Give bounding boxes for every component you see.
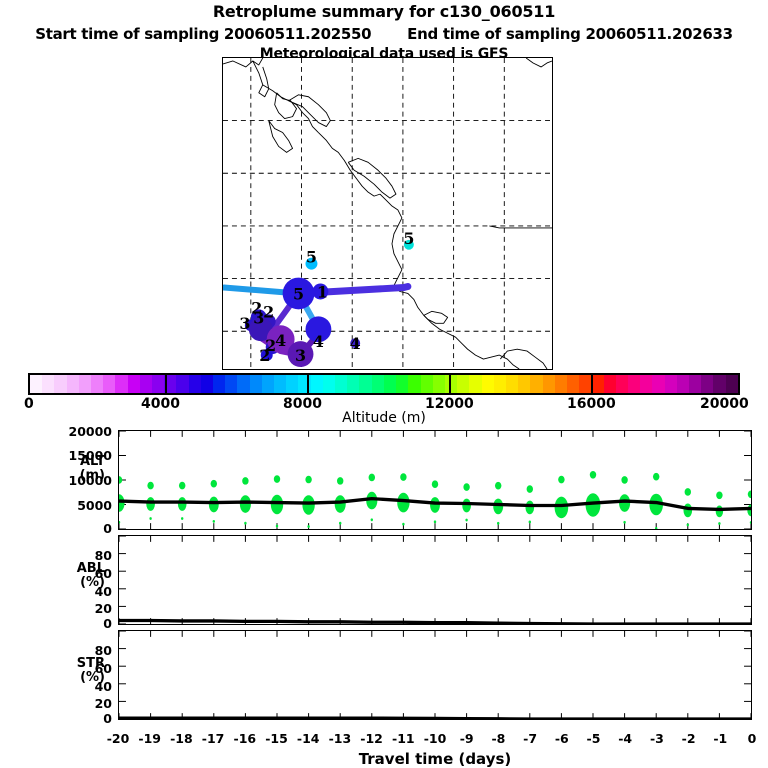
alt-spread-blob: [149, 517, 151, 520]
x-tick-label: -1: [705, 731, 735, 746]
alt-spread-blob: [716, 505, 723, 517]
alt-spread-blob: [687, 523, 689, 526]
svg-text:3: 3: [239, 314, 250, 333]
colorbar-swatch-25: [335, 375, 347, 393]
x-tick-label: -19: [135, 731, 165, 746]
alt-scatter-points: [119, 471, 751, 529]
colorbar-swatch-49: [628, 375, 640, 393]
colorbar-swatch-28: [372, 375, 384, 393]
colorbar-axis-label: Altitude (m): [0, 410, 768, 426]
colorbar-swatch-1: [42, 375, 54, 393]
abl-axis-ticks: [119, 536, 751, 624]
str-ytick-20: 20: [48, 696, 112, 711]
alt-spread-blob: [305, 476, 311, 484]
alt-spread-blob: [430, 497, 440, 513]
x-tick-label: -4: [610, 731, 640, 746]
alt-spread-blob: [179, 482, 185, 490]
colorbar-swatch-40: [518, 375, 530, 393]
str-series-line: [119, 718, 751, 719]
svg-text:2: 2: [251, 298, 262, 317]
colorbar-swatch-2: [54, 375, 66, 393]
colorbar-swatch-35: [457, 375, 469, 393]
alt-spread-blob: [590, 471, 596, 479]
colorbar-swatch-42: [543, 375, 555, 393]
colorbar-swatch-48: [616, 375, 628, 393]
colorbar-swatch-7: [115, 375, 127, 393]
alt-spread-blob: [750, 521, 751, 524]
x-tick-label: -15: [262, 731, 292, 746]
alt-spread-blob: [119, 521, 120, 524]
colorbar-swatch-9: [140, 375, 152, 393]
x-tick-label: -5: [579, 731, 609, 746]
alt-spread-blob: [621, 476, 627, 484]
svg-text:2: 2: [259, 346, 270, 365]
alt-ytick-0: 0: [48, 521, 112, 536]
colorbar-swatch-44: [567, 375, 579, 393]
x-tick-label: -18: [166, 731, 196, 746]
alt-spread-blob: [655, 527, 657, 529]
end-time-label: End time of sampling 20060511.202633: [407, 25, 733, 43]
colorbar-swatch-43: [555, 375, 567, 393]
alt-spread-blob: [181, 517, 183, 520]
alt-spread-blob: [497, 522, 499, 525]
alt-spread-blob: [685, 488, 691, 496]
alt-ytick-20000: 20000: [48, 424, 112, 439]
colorbar-swatch-55: [701, 375, 713, 393]
alt-spread-blob: [276, 525, 278, 528]
str-ytick-0: 0: [48, 711, 112, 726]
alt-spread-blob: [274, 475, 280, 483]
svg-text:5: 5: [306, 248, 317, 267]
x-tick-label: -6: [547, 731, 577, 746]
marker-day-labels: 5 5 5 1 4 4 3 4 3 3 2 2 2 2: [239, 229, 414, 365]
alt-spread-blob: [495, 482, 501, 490]
svg-text:2: 2: [263, 302, 274, 321]
str-ytick-60: 60: [48, 661, 112, 676]
colorbar-divider: [307, 373, 309, 395]
str-ytick-80: 80: [48, 643, 112, 658]
alt-spread-blob: [434, 520, 436, 523]
colorbar-swatch-16: [225, 375, 237, 393]
colorbar-swatch-18: [250, 375, 262, 393]
svg-text:4: 4: [275, 331, 286, 350]
colorbar-divider: [591, 373, 593, 395]
x-tick-label: -3: [642, 731, 672, 746]
colorbar-swatch-24: [323, 375, 335, 393]
alt-spread-blob: [463, 483, 469, 491]
alt-spread-blob: [465, 519, 467, 522]
str-ytick-40: 40: [48, 679, 112, 694]
alt-spread-blob: [683, 504, 692, 518]
x-axis-title: Travel time (days): [118, 750, 752, 768]
x-tick-label: 0: [737, 731, 767, 746]
x-tick-label: -14: [293, 731, 323, 746]
abl-ytick-40: 40: [48, 584, 112, 599]
colorbar-swatch-30: [396, 375, 408, 393]
colorbar-swatch-5: [91, 375, 103, 393]
colorbar-swatch-14: [201, 375, 213, 393]
str-plot-panel[interactable]: [118, 630, 752, 720]
alt-spread-blob: [747, 505, 751, 517]
alt-spread-blob: [402, 523, 404, 526]
x-tick-label: -8: [483, 731, 513, 746]
alt-ytick-5000: 5000: [48, 498, 112, 513]
alt-spread-blob: [240, 495, 251, 513]
x-tick-label: -7: [515, 731, 545, 746]
sampling-time-row: Start time of sampling 20060511.202550 E…: [0, 25, 768, 43]
colorbar-swatch-6: [103, 375, 115, 393]
alt-spread-blob: [623, 521, 625, 524]
colorbar-swatch-0: [30, 375, 42, 393]
colorbar-swatch-47: [604, 375, 616, 393]
alt-plot-panel[interactable]: [118, 430, 752, 530]
alt-ytick-10000: 10000: [48, 473, 112, 488]
x-tick-label: -9: [452, 731, 482, 746]
alt-spread-blob: [527, 485, 533, 493]
abl-ytick-80: 80: [48, 548, 112, 563]
alt-spread-blob: [244, 522, 246, 525]
alt-spread-blob: [178, 497, 187, 511]
colorbar-swatch-17: [237, 375, 249, 393]
colorbar-swatch-23: [311, 375, 323, 393]
abl-ytick-0: 0: [48, 616, 112, 631]
svg-text:4: 4: [313, 332, 324, 351]
colorbar-swatch-4: [79, 375, 91, 393]
alt-spread-blob: [432, 480, 438, 488]
alt-spread-blob: [558, 476, 564, 484]
colorbar-swatch-56: [713, 375, 725, 393]
x-tick-label: -13: [325, 731, 355, 746]
svg-text:1: 1: [317, 282, 328, 301]
alt-spread-blob: [335, 495, 346, 513]
alt-spread-blob: [271, 495, 283, 515]
colorbar-swatch-37: [482, 375, 494, 393]
abl-ytick-60: 60: [48, 566, 112, 581]
abl-plot-panel[interactable]: [118, 535, 752, 625]
colorbar-swatch-3: [67, 375, 79, 393]
svg-text:5: 5: [403, 229, 414, 248]
svg-text:4: 4: [350, 334, 361, 353]
colorbar-swatch-8: [128, 375, 140, 393]
alt-spread-blob: [339, 522, 341, 525]
colorbar-swatch-51: [652, 375, 664, 393]
alt-ytick-15000: 15000: [48, 448, 112, 463]
alt-spread-blob: [119, 494, 125, 512]
alt-spread-blob: [371, 518, 373, 521]
colorbar-swatch-26: [347, 375, 359, 393]
colorbar-swatch-31: [408, 375, 420, 393]
alt-spread-blob: [653, 473, 659, 481]
alt-spread-blob: [555, 497, 569, 519]
colorbar-swatch-38: [494, 375, 506, 393]
colorbar-swatch-54: [689, 375, 701, 393]
alt-spread-blob: [337, 477, 343, 485]
colorbar-swatch-39: [506, 375, 518, 393]
colorbar-swatch-41: [530, 375, 542, 393]
colorbar-swatch-57: [726, 375, 738, 393]
colorbar-swatch-29: [384, 375, 396, 393]
alt-spread-blob: [213, 520, 215, 523]
alt-spread-blob: [146, 497, 155, 511]
alt-spread-blob: [718, 522, 720, 525]
x-tick-label: -12: [357, 731, 387, 746]
colorbar-swatch-36: [469, 375, 481, 393]
alt-spread-blob: [619, 494, 630, 512]
alt-spread-blob: [302, 495, 314, 515]
alt-spread-blob: [147, 482, 153, 490]
colorbar-swatch-45: [579, 375, 591, 393]
colorbar-swatch-33: [433, 375, 445, 393]
colorbar-swatch-34: [445, 375, 457, 393]
colorbar-swatch-12: [176, 375, 188, 393]
colorbar-swatch-10: [152, 375, 164, 393]
alt-spread-blob: [493, 499, 503, 515]
colorbar-swatch-27: [359, 375, 371, 393]
alt-spread-blob: [400, 473, 406, 481]
x-tick-label: -20: [103, 731, 133, 746]
colorbar-divider: [449, 373, 451, 395]
colorbar-swatch-21: [286, 375, 298, 393]
alt-spread-blob: [462, 499, 471, 513]
trajectory-map[interactable]: 5 5 5 1 4 4 3 4 3 3 2 2 2 2: [222, 57, 553, 370]
colorbar-swatch-19: [262, 375, 274, 393]
x-tick-label: -17: [198, 731, 228, 746]
colorbar-divider: [165, 373, 167, 395]
alt-spread-blob: [525, 501, 534, 515]
altitude-colorbar: [28, 373, 740, 395]
svg-text:5: 5: [293, 284, 304, 303]
alt-spread-blob: [242, 477, 248, 485]
x-tick-label: -11: [388, 731, 418, 746]
alt-spread-blob: [529, 521, 531, 524]
colorbar-swatch-50: [640, 375, 652, 393]
page-title: Retroplume summary for c130_060511: [0, 2, 768, 21]
colorbar-swatch-32: [421, 375, 433, 393]
colorbar-swatch-46: [591, 375, 603, 393]
colorbar-swatch-52: [665, 375, 677, 393]
alt-spread-blob: [211, 480, 217, 488]
colorbar-swatch-15: [213, 375, 225, 393]
alt-spread-blob: [716, 491, 722, 499]
x-tick-label: -16: [230, 731, 260, 746]
alt-spread-blob: [209, 497, 219, 513]
colorbar-swatch-53: [677, 375, 689, 393]
svg-text:3: 3: [295, 346, 306, 365]
abl-ytick-20: 20: [48, 601, 112, 616]
alt-spread-blob: [369, 474, 375, 482]
x-tick-label: -2: [674, 731, 704, 746]
colorbar-swatch-20: [274, 375, 286, 393]
alt-spread-blob: [119, 476, 122, 484]
start-time-label: Start time of sampling 20060511.202550: [35, 25, 371, 43]
str-axis-ticks: [119, 631, 751, 719]
alt-spread-blob: [748, 491, 751, 499]
x-tick-label: -10: [420, 731, 450, 746]
alt-spread-blob: [307, 525, 309, 528]
colorbar-swatch-13: [189, 375, 201, 393]
